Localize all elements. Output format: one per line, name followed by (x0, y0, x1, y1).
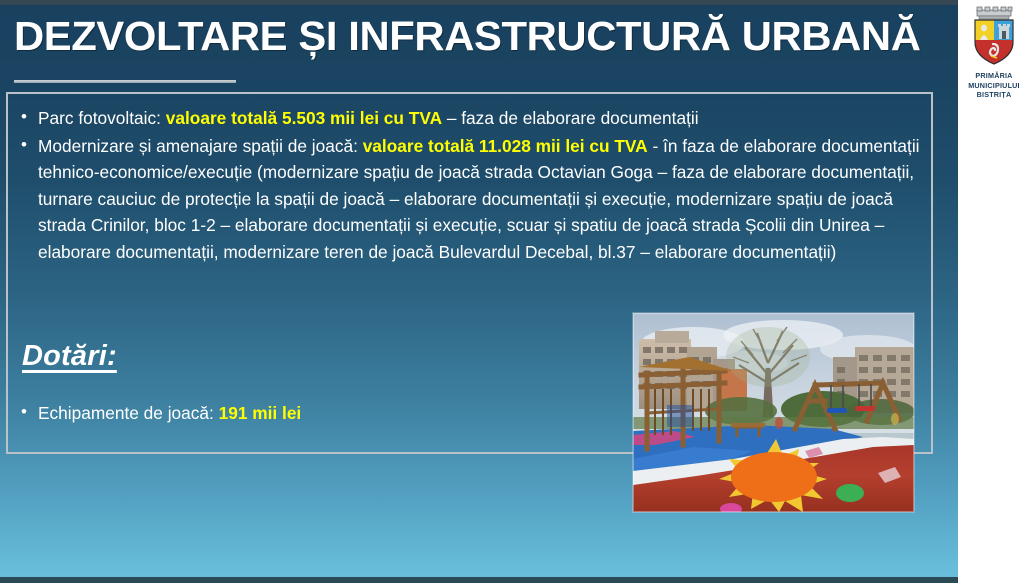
list-item: Modernizare și amenajare spații de joacă… (14, 133, 926, 266)
bullet-segment: Modernizare și amenajare spații de joacă… (38, 136, 363, 156)
logo-caption-line-1: PRIMĂRIA (966, 71, 1022, 81)
bottom-edge-shade (0, 577, 958, 583)
bullet-highlight: valoare totală 5.503 mii lei cu TVA (166, 108, 442, 128)
list-item: Parc fotovoltaic: valoare totală 5.503 m… (14, 105, 926, 132)
bullet-segment: Parc fotovoltaic: (38, 108, 166, 128)
logo-caption: PRIMĂRIA MUNICIPIULUI BISTRIȚA (966, 71, 1022, 100)
list-item: Echipamente de joacă: 191 mii lei (14, 400, 574, 427)
playground-photo (633, 313, 914, 512)
main-bullet-list: Parc fotovoltaic: valoare totală 5.503 m… (14, 105, 926, 266)
title-area: DEZVOLTARE ȘI INFRASTRUCTURĂ URBANĂ (14, 12, 944, 61)
logo-caption-line-2: MUNICIPIULUI (966, 81, 1022, 91)
coat-of-arms-icon (969, 6, 1019, 68)
bullets: Echipamente de joacă: 191 mii lei (14, 400, 574, 427)
playground-photo-image (633, 313, 914, 512)
title-divider (14, 80, 236, 83)
section-bullet-list: Echipamente de joacă: 191 mii lei (14, 400, 574, 428)
top-edge-shade (0, 0, 958, 5)
bullet-segment: – faza de elaborare documentații (442, 108, 699, 128)
page-title: DEZVOLTARE ȘI INFRASTRUCTURĂ URBANĂ (14, 12, 958, 61)
slide-root: DEZVOLTARE ȘI INFRASTRUCTURĂ URBANĂ Parc… (0, 0, 1024, 583)
bullet-highlight: 191 mii lei (219, 403, 302, 423)
bullet-highlight: valoare totală 11.028 mii lei cu TVA (363, 136, 648, 156)
logo-caption-line-3: BISTRIȚA (966, 90, 1022, 100)
bullets: Parc fotovoltaic: valoare totală 5.503 m… (14, 105, 926, 265)
bullet-segment: Echipamente de joacă: (38, 403, 219, 423)
logo-area: PRIMĂRIA MUNICIPIULUI BISTRIȚA (966, 6, 1022, 100)
slide-canvas: DEZVOLTARE ȘI INFRASTRUCTURĂ URBANĂ Parc… (0, 0, 958, 583)
section-heading: Dotări: (22, 340, 117, 373)
